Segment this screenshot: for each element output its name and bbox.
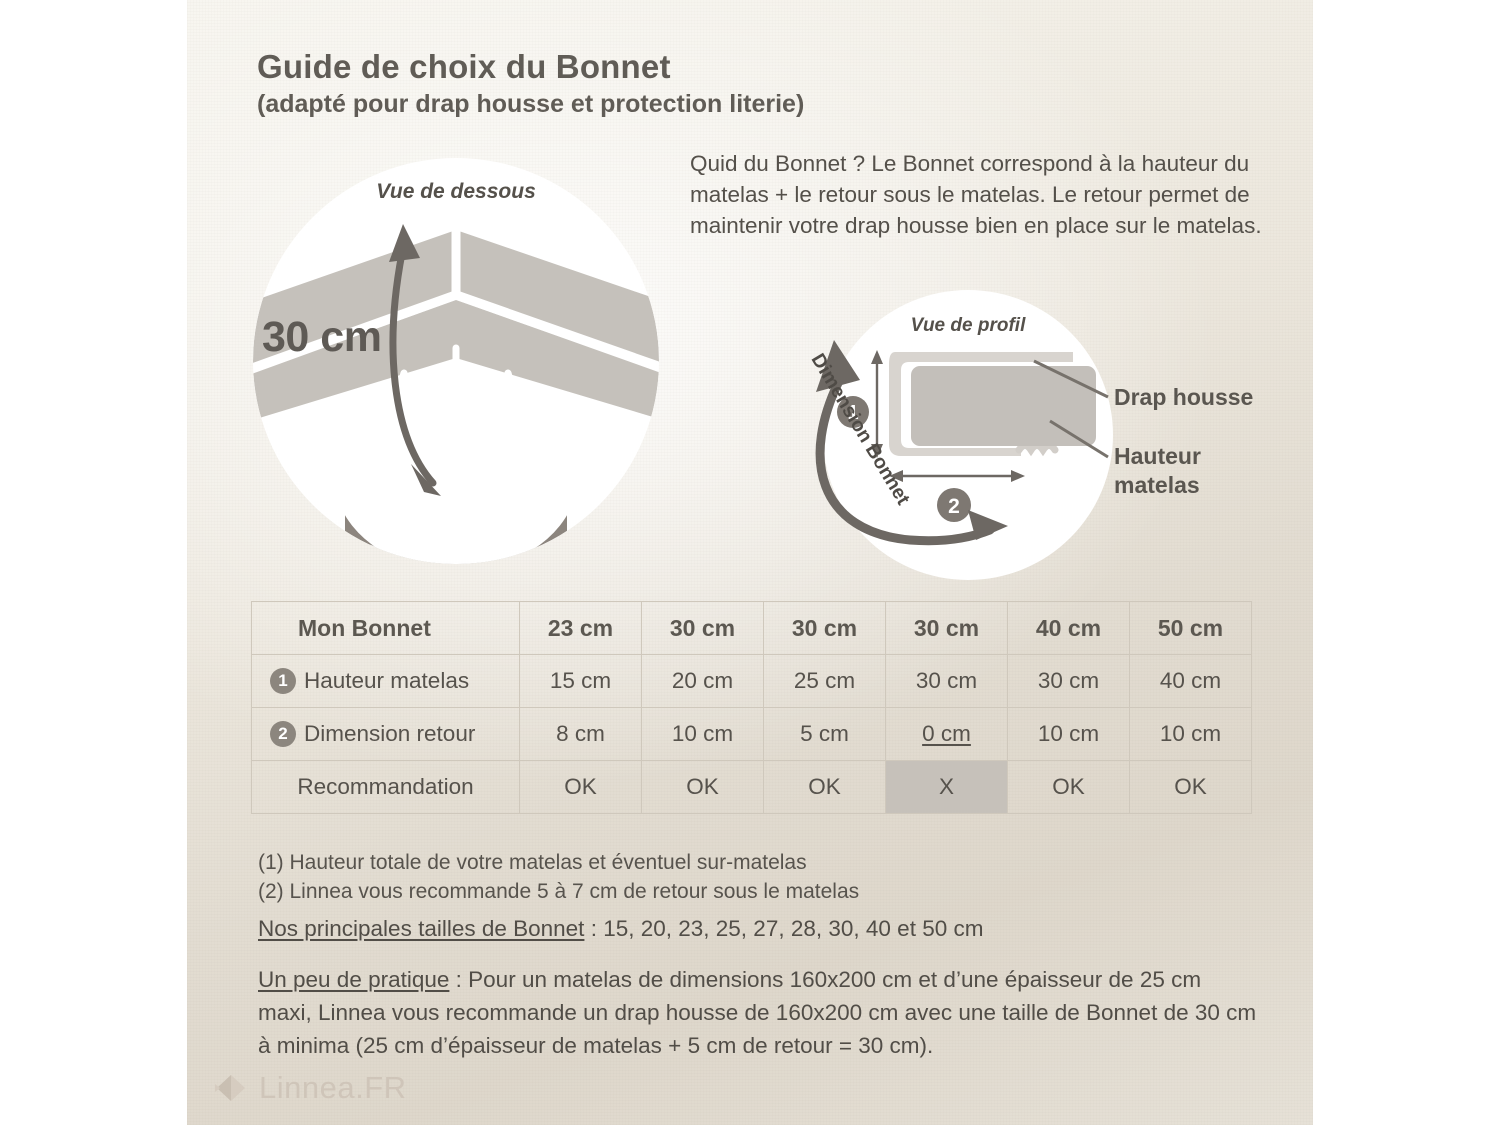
rec-col-2: OK xyxy=(764,761,886,814)
rec-col-4: OK xyxy=(1008,761,1130,814)
table-row-header: Mon Bonnet 23 cm 30 cm 30 cm 30 cm 40 cm… xyxy=(252,602,1252,655)
rd-col-1: 10 cm xyxy=(642,708,764,761)
rd-col-2: 5 cm xyxy=(764,708,886,761)
rec-col-3: X xyxy=(886,761,1008,814)
sizes-value: : 15, 20, 23, 25, 27, 28, 30, 40 et 50 c… xyxy=(584,916,983,941)
table-row-mattress-height: 1Hauteur matelas 15 cm 20 cm 25 cm 30 cm… xyxy=(252,655,1252,708)
linnea-logo-text: Linnea.FR xyxy=(259,1070,407,1106)
rd-col-3-value: 0 cm xyxy=(922,721,971,746)
header-row-label: Mon Bonnet xyxy=(252,602,520,655)
row-label-mattress-height-text: Hauteur matelas xyxy=(304,668,469,693)
header-col-0: 23 cm xyxy=(520,602,642,655)
bonnet-table-wrapper: Mon Bonnet 23 cm 30 cm 30 cm 30 cm 40 cm… xyxy=(251,601,1251,814)
callout-drap-housse: Drap housse xyxy=(1114,383,1314,412)
mh-col-0: 15 cm xyxy=(520,655,642,708)
mh-col-1: 20 cm xyxy=(642,655,764,708)
brand-logo[interactable]: Linnea.FR xyxy=(215,1070,407,1106)
table-row-recommendation: Recommandation OK OK OK X OK OK xyxy=(252,761,1252,814)
rec-col-0: OK xyxy=(520,761,642,814)
callout-hauteur-line2: matelas xyxy=(1114,471,1314,500)
badge-one: 1 xyxy=(270,668,296,694)
header-col-2: 30 cm xyxy=(764,602,886,655)
row-label-mattress-height: 1Hauteur matelas xyxy=(252,655,520,708)
mh-col-3: 30 cm xyxy=(886,655,1008,708)
practical-label: Un peu de pratique xyxy=(258,967,449,992)
rd-col-3: 0 cm xyxy=(886,708,1008,761)
footnote-1: (1) Hauteur totale de votre matelas et é… xyxy=(258,848,1158,877)
header-col-3: 30 cm xyxy=(886,602,1008,655)
sizes-line: Nos principales tailles de Bonnet : 15, … xyxy=(258,916,1258,942)
bonnet-measure-label: 30 cm xyxy=(262,313,422,362)
footnotes: (1) Hauteur totale de votre matelas et é… xyxy=(258,848,1158,906)
rd-col-4: 10 cm xyxy=(1008,708,1130,761)
row-label-return-dimension: 2Dimension retour xyxy=(252,708,520,761)
practical-paragraph: Un peu de pratique : Pour un matelas de … xyxy=(258,963,1258,1062)
callout-hauteur-line1: Hauteur xyxy=(1114,442,1314,471)
measure-arrow-head-top xyxy=(389,224,420,262)
header-col-5: 50 cm xyxy=(1130,602,1252,655)
badge-two: 2 xyxy=(270,721,296,747)
bottom-view-label: Vue de dessous xyxy=(253,180,659,204)
table-row-return-dimension: 2Dimension retour 8 cm 10 cm 5 cm 0 cm 1… xyxy=(252,708,1252,761)
rd-col-5: 10 cm xyxy=(1130,708,1252,761)
row-label-recommendation: Recommandation xyxy=(252,761,520,814)
callout-hauteur-matelas: Hauteur matelas xyxy=(1114,442,1314,500)
mh-col-4: 30 cm xyxy=(1008,655,1130,708)
page-subtitle: (adapté pour drap housse et protection l… xyxy=(257,90,1157,119)
rec-col-5: OK xyxy=(1130,761,1252,814)
header-col-1: 30 cm xyxy=(642,602,764,655)
header-col-4: 40 cm xyxy=(1008,602,1130,655)
infographic-page: Guide de choix du Bonnet (adapté pour dr… xyxy=(0,0,1500,1125)
linnea-diamond-icon xyxy=(215,1073,249,1103)
row-label-return-dimension-text: Dimension retour xyxy=(304,721,475,746)
intro-paragraph: Quid du Bonnet ? Le Bonnet correspond à … xyxy=(690,148,1270,241)
page-title: Guide de choix du Bonnet xyxy=(257,48,1157,86)
rd-col-0: 8 cm xyxy=(520,708,642,761)
profile-view-label: Vue de profil xyxy=(823,315,1113,337)
rec-col-1: OK xyxy=(642,761,764,814)
mh-col-5: 40 cm xyxy=(1130,655,1252,708)
mh-col-2: 25 cm xyxy=(764,655,886,708)
sizes-label: Nos principales tailles de Bonnet xyxy=(258,916,584,941)
footnote-2: (2) Linnea vous recommande 5 à 7 cm de r… xyxy=(258,877,1158,906)
bonnet-table: Mon Bonnet 23 cm 30 cm 30 cm 30 cm 40 cm… xyxy=(251,601,1252,814)
